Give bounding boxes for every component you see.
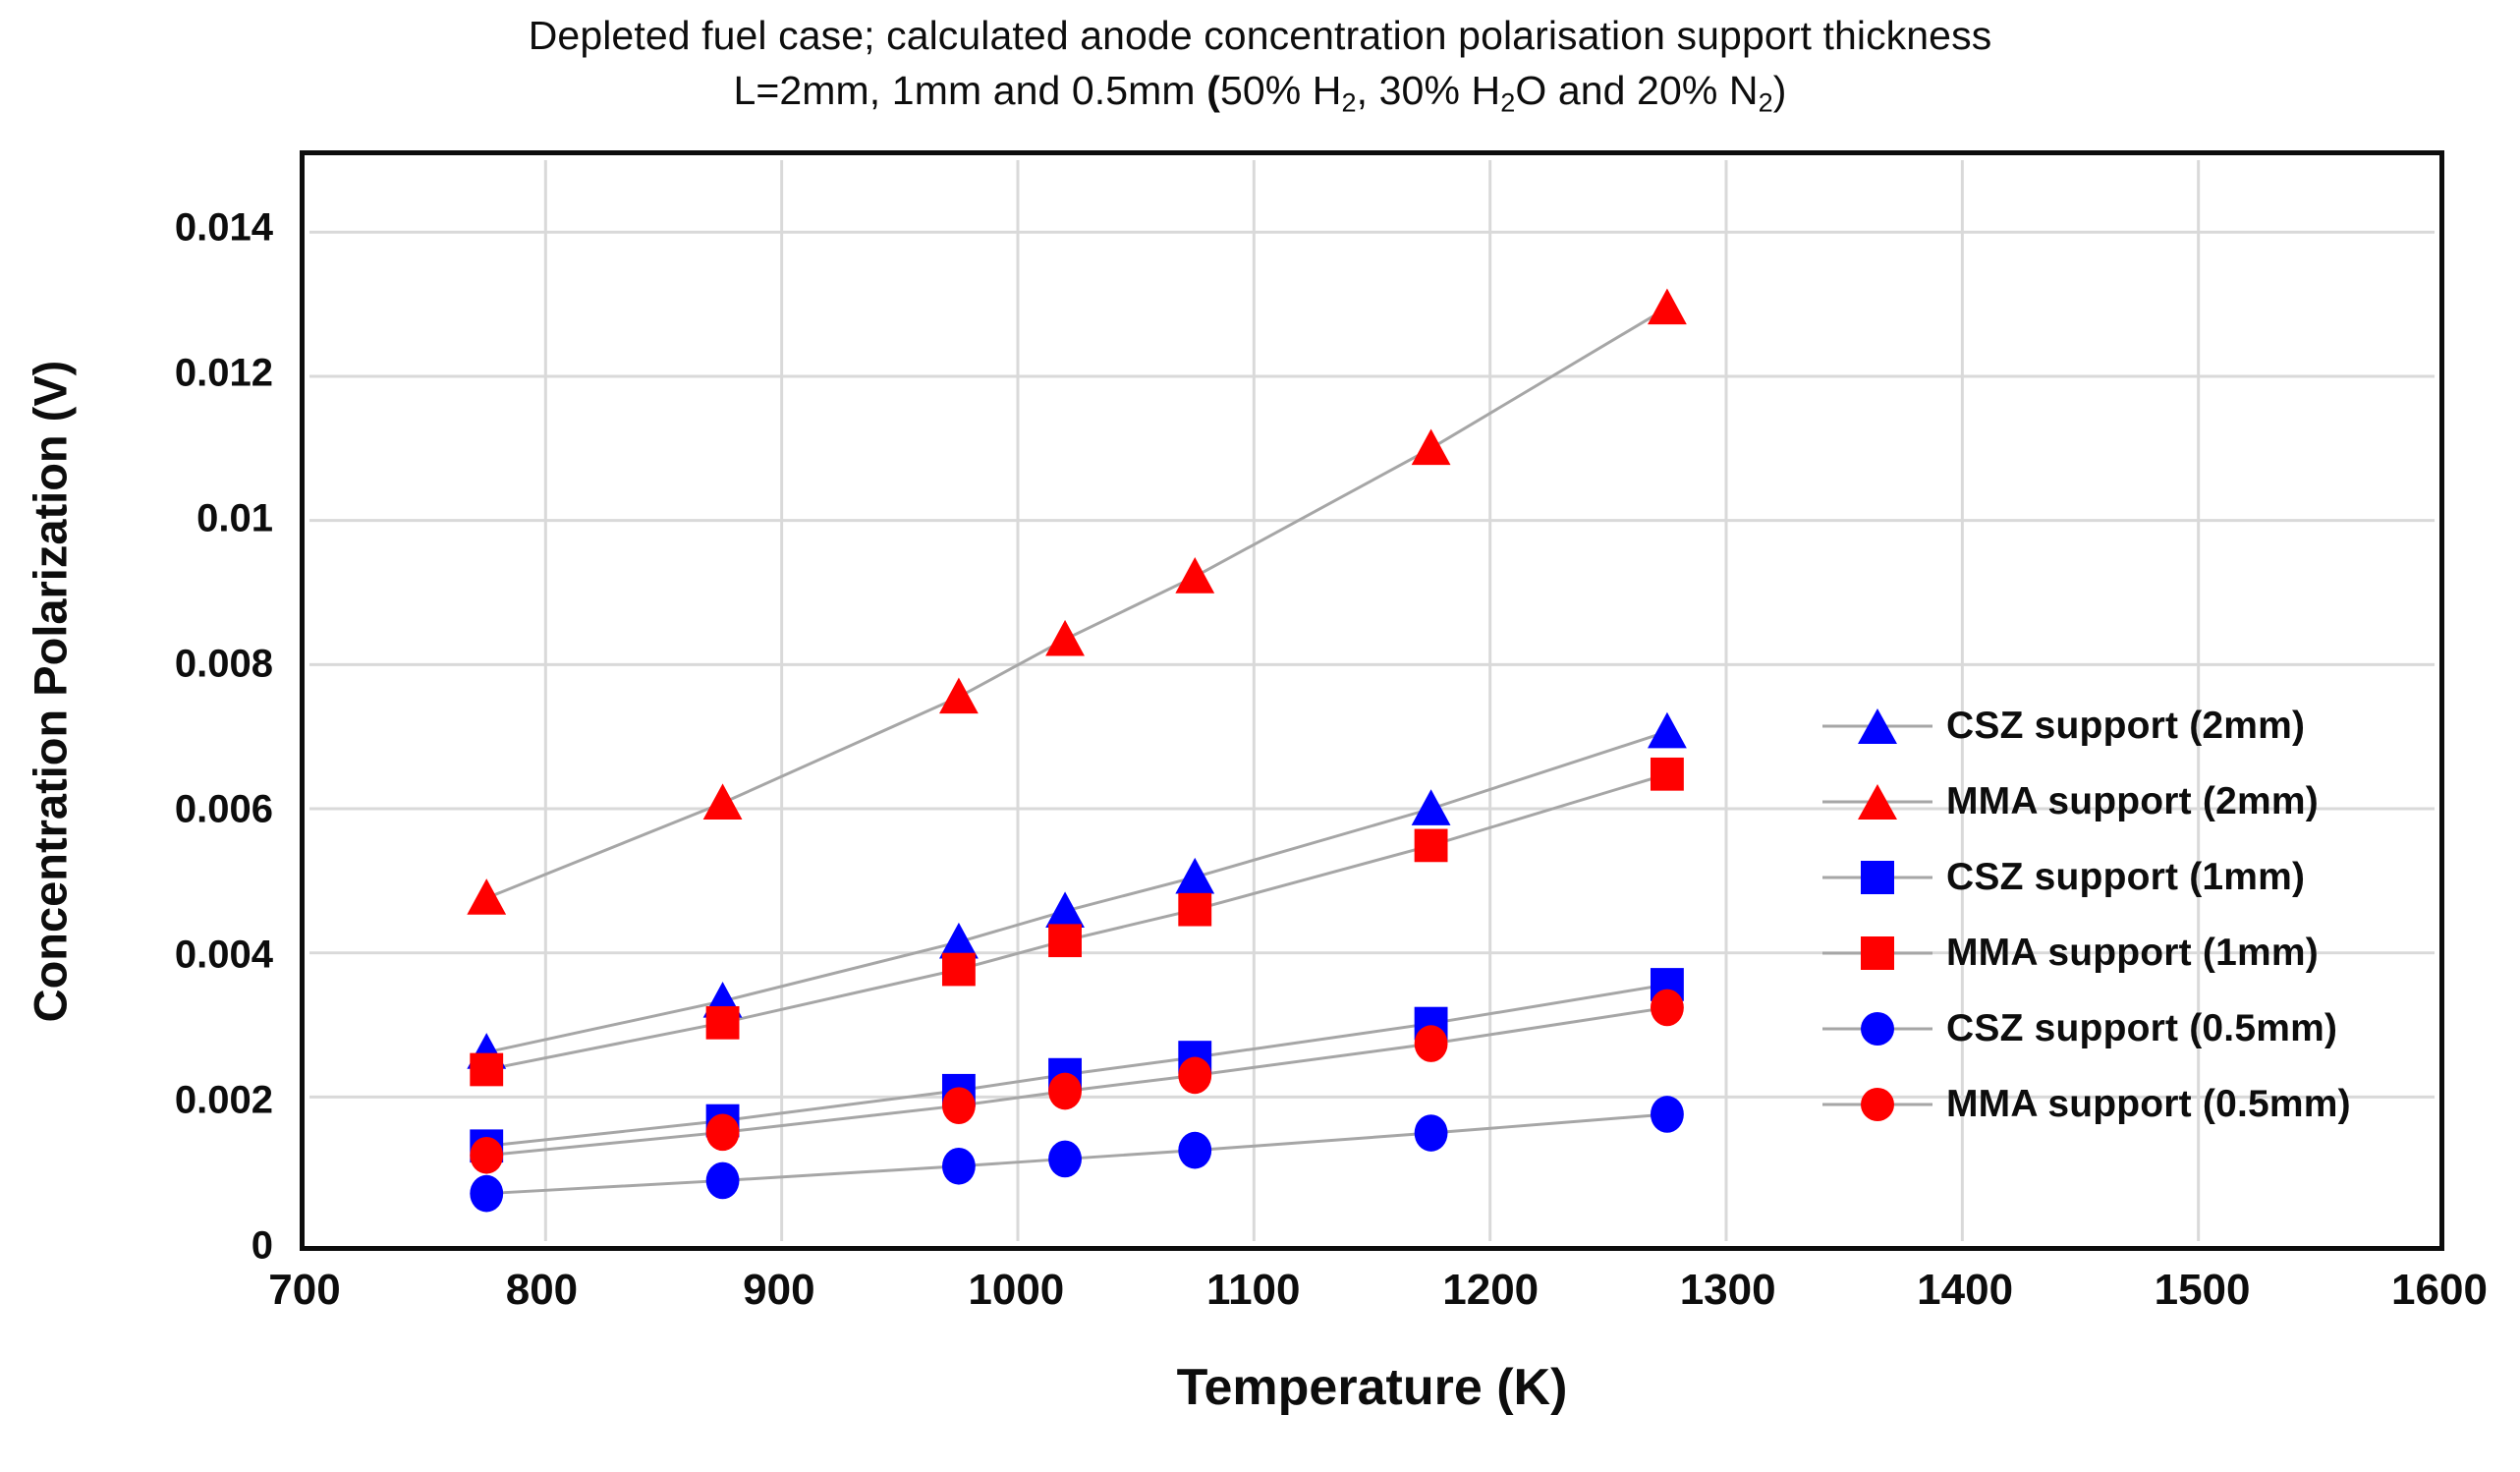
x-tick-label: 1100: [1206, 1266, 1300, 1315]
chart-title-line-2: L=2mm, 1mm and 0.5mm (50% H2, 30% H2O an…: [0, 63, 2520, 131]
legend-marker-key: [1822, 934, 1932, 973]
y-tick-label: 0.004: [175, 934, 273, 978]
x-axis-title: Temperature (K): [300, 1358, 2444, 1417]
x-tick-label: 900: [743, 1266, 814, 1315]
y-tick-label: 0.002: [175, 1079, 273, 1123]
legend-item-label: CSZ support (0.5mm): [1932, 1007, 2337, 1050]
x-tick-label: 1400: [1917, 1266, 2013, 1315]
chart-page: Depleted fuel case; calculated anode con…: [0, 0, 2520, 1472]
title-close-paren: ): [1773, 68, 1787, 113]
y-tick-label: 0.012: [175, 352, 273, 396]
legend-item-label: MMA support (1mm): [1932, 932, 2319, 975]
legend-item[interactable]: MMA support (1mm): [1822, 915, 2510, 991]
x-tick-label: 1300: [1680, 1266, 1776, 1315]
x-tick-label: 1000: [968, 1266, 1064, 1315]
chart-title-line-1: Depleted fuel case; calculated anode con…: [0, 8, 2520, 63]
title-n2-sub: 2: [1759, 88, 1773, 118]
y-tick-label: 0.014: [175, 206, 273, 251]
y-tick-label: 0.01: [196, 497, 273, 541]
y-tick-label: 0.006: [175, 788, 273, 832]
x-tick-label: 700: [268, 1266, 340, 1315]
title-h2o-sub: 2: [1500, 88, 1515, 118]
y-tick-label: 0.008: [175, 643, 273, 687]
triangle-marker-icon: [1858, 708, 1897, 744]
chart-title: Depleted fuel case; calculated anode con…: [0, 8, 2520, 131]
y-axis-tick-labels: 00.0020.0040.0060.0080.010.0120.014: [59, 150, 273, 1251]
square-marker-icon: [1861, 936, 1894, 970]
circle-marker-icon: [1861, 1012, 1894, 1046]
x-tick-label: 1500: [2155, 1266, 2251, 1315]
legend-marker-key: [1822, 707, 1932, 746]
legend-marker-key: [1822, 1085, 1932, 1124]
legend-item[interactable]: MMA support (0.5mm): [1822, 1066, 2510, 1142]
legend-item-label: MMA support (2mm): [1932, 780, 2319, 823]
legend-item[interactable]: CSZ support (0.5mm): [1822, 991, 2510, 1066]
legend-item-label: MMA support (0.5mm): [1932, 1083, 2351, 1126]
legend-marker-key: [1822, 782, 1932, 821]
x-tick-label: 800: [506, 1266, 578, 1315]
title-h2-sub: 2: [1342, 88, 1357, 118]
title-n2-text: O and 20% N: [1515, 68, 1758, 113]
x-tick-label: 1600: [2391, 1266, 2488, 1315]
legend-marker-key: [1822, 858, 1932, 897]
square-marker-icon: [1861, 861, 1894, 894]
title-h2-text: 50% H: [1220, 68, 1342, 113]
legend-item[interactable]: CSZ support (2mm): [1822, 688, 2510, 764]
legend-item[interactable]: CSZ support (1mm): [1822, 839, 2510, 915]
x-tick-label: 1200: [1442, 1266, 1539, 1315]
legend-marker-key: [1822, 1009, 1932, 1048]
title-l-text: L=2mm, 1mm and 0.5mm: [733, 68, 1206, 113]
legend-item-label: CSZ support (2mm): [1932, 705, 2305, 748]
x-axis-tick-labels: 7008009001000110012001300140015001600: [300, 1266, 2444, 1325]
y-tick-label: 0: [252, 1224, 273, 1269]
title-h2o-text: , 30% H: [1357, 68, 1501, 113]
triangle-marker-icon: [1858, 784, 1897, 820]
legend-item-label: CSZ support (1mm): [1932, 856, 2305, 899]
chart-legend: CSZ support (2mm)MMA support (2mm)CSZ su…: [1822, 688, 2510, 1142]
title-open-paren: (: [1206, 68, 1220, 113]
legend-item[interactable]: MMA support (2mm): [1822, 764, 2510, 839]
circle-marker-icon: [1861, 1088, 1894, 1121]
